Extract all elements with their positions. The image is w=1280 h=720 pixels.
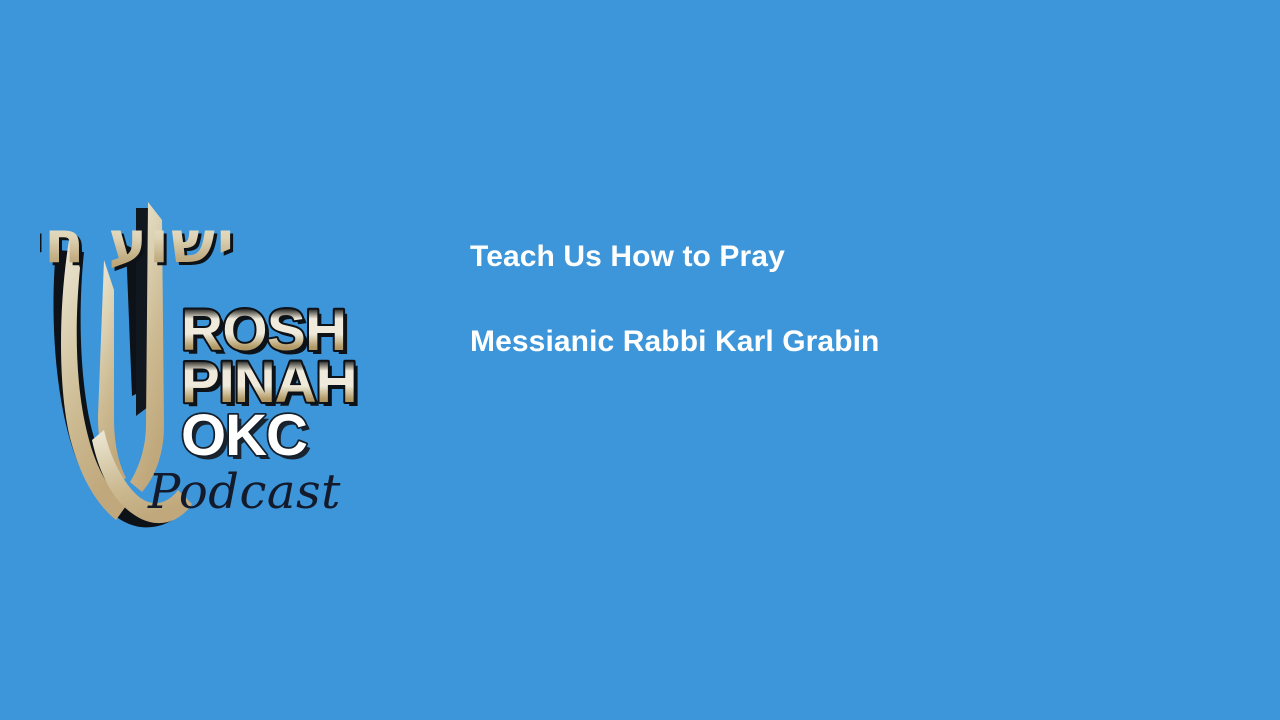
hebrew-wordmark: ישוע חי ישוע חי: [40, 208, 239, 279]
logo-word-okc: OKC OKC OKC: [181, 403, 311, 472]
podcast-logo: ישוע חי ישוע חי ROSH ROSH ROSH PINAH PIN…: [40, 190, 380, 535]
svg-text:Podcast: Podcast: [147, 464, 341, 520]
podcast-episode-slide: ישוע חי ישוע חי ROSH ROSH ROSH PINAH PIN…: [0, 0, 1280, 720]
episode-text-block: Teach Us How to Pray Messianic Rabbi Kar…: [470, 236, 1230, 363]
episode-title: Teach Us How to Pray: [470, 236, 1230, 278]
logo-svg: ישוע חי ישוע חי ROSH ROSH ROSH PINAH PIN…: [40, 190, 380, 535]
svg-text:OKC: OKC: [181, 403, 307, 468]
svg-text:ישוע חי: ישוע חי: [40, 208, 236, 276]
logo-word-podcast: Podcast: [147, 464, 341, 520]
episode-speaker: Messianic Rabbi Karl Grabin: [470, 321, 1230, 363]
